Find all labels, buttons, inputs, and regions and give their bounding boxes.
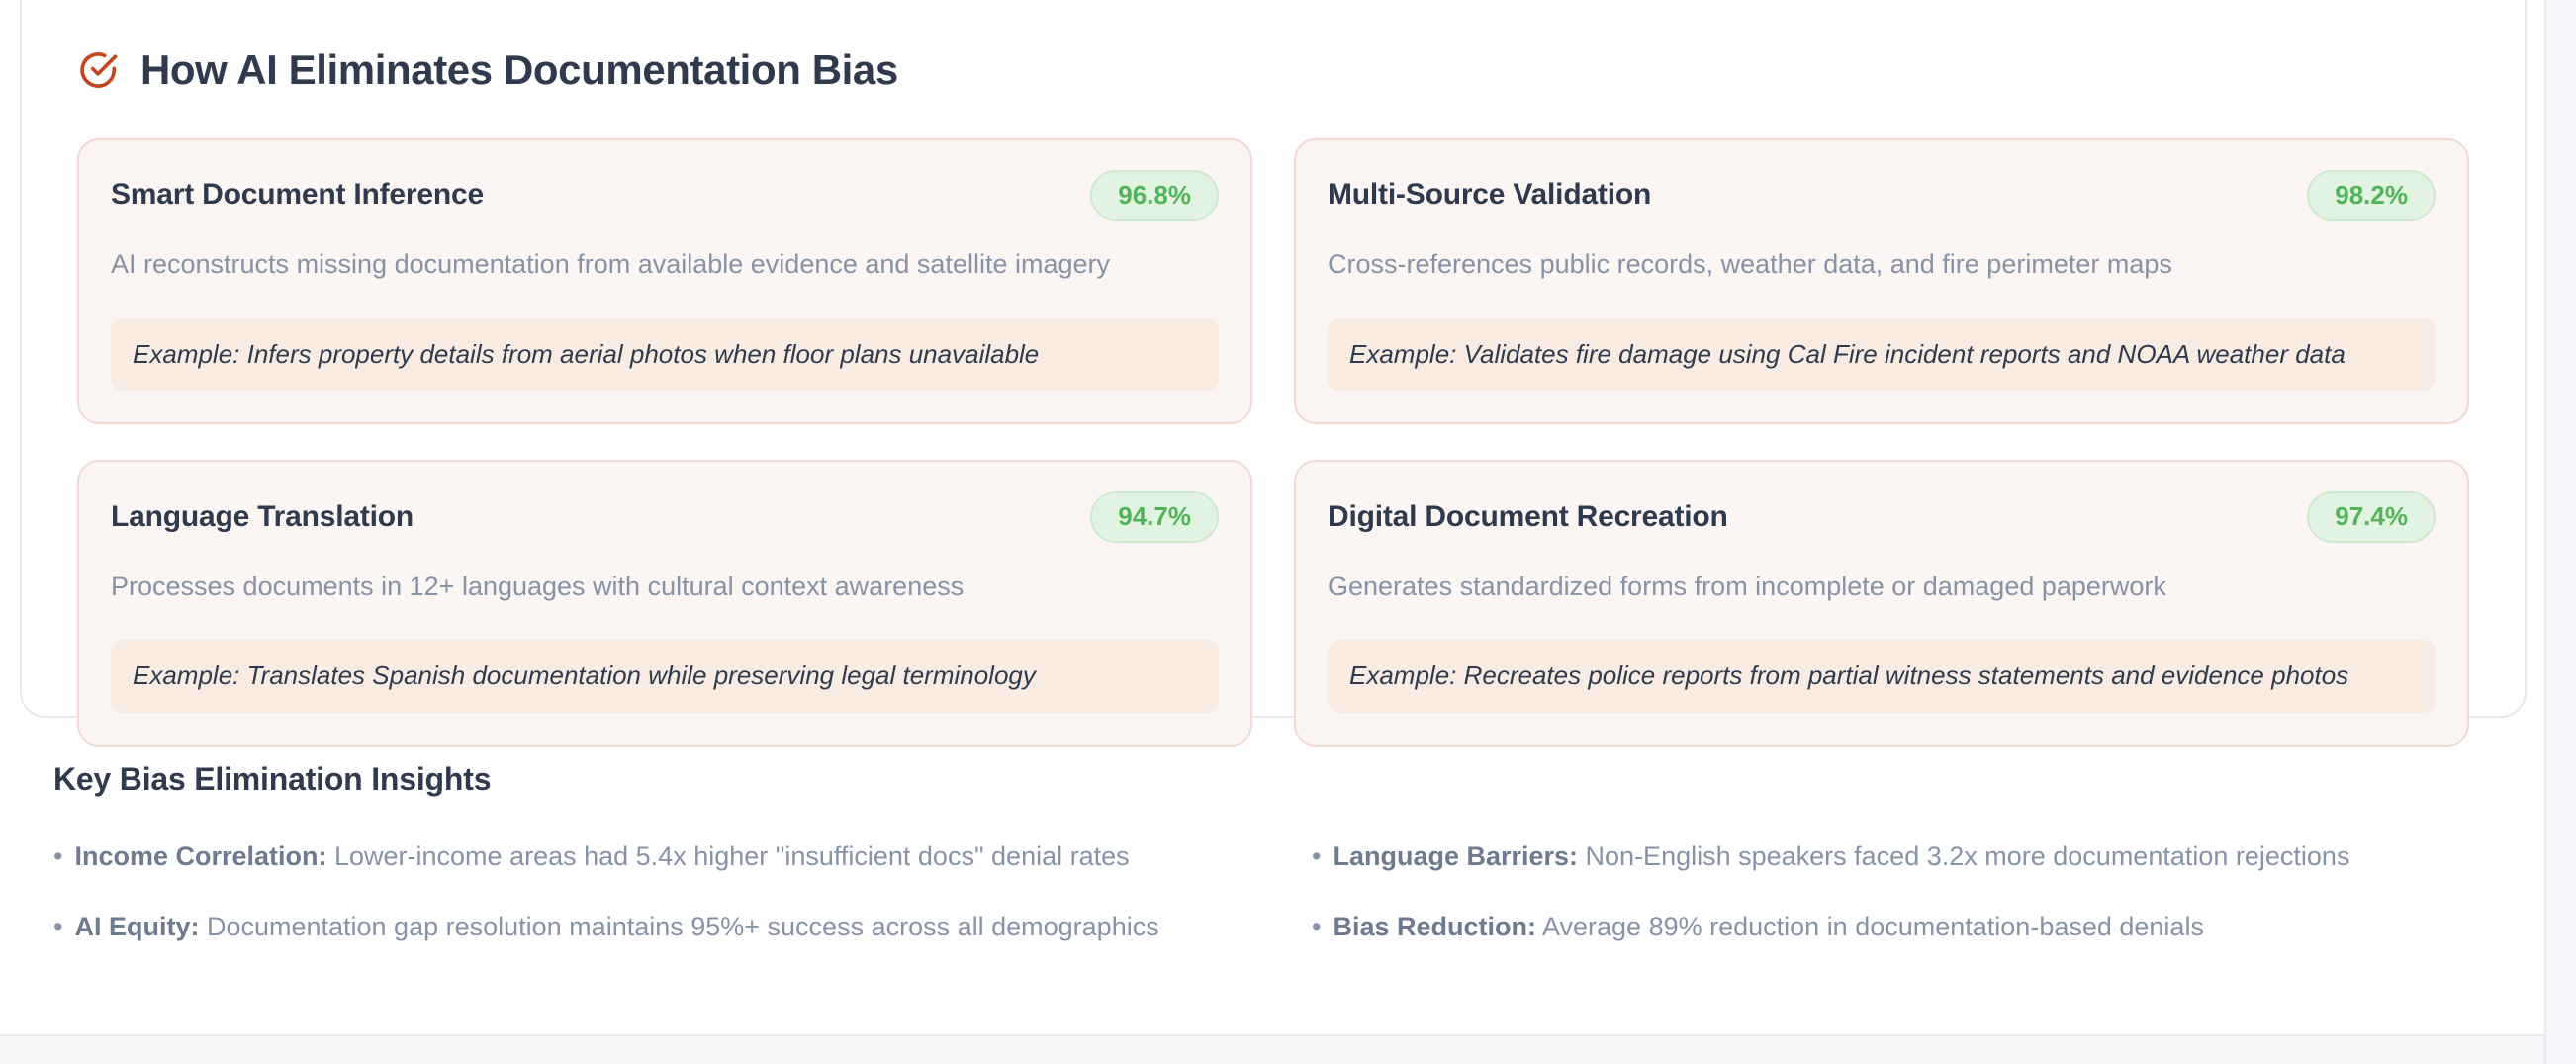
insight-body: Language Barriers: Non-English speakers …: [1333, 840, 2349, 874]
card-example: Example: Translates Spanish documentatio…: [111, 640, 1219, 713]
card-title: Smart Document Inference: [111, 178, 484, 213]
card-title: Digital Document Recreation: [1328, 500, 1728, 535]
insight-detail: Lower-income areas had 5.4x higher "insu…: [327, 842, 1130, 871]
card-header: Language Translation 94.7%: [111, 491, 1219, 542]
insight-body: AI Equity: Documentation gap resolution …: [74, 910, 1158, 944]
insight-detail: Documentation gap resolution maintains 9…: [199, 912, 1158, 941]
insight-body: Income Correlation: Lower-income areas h…: [74, 840, 1129, 874]
card-header: Multi-Source Validation 98.2%: [1328, 170, 2436, 221]
insights-grid: • Income Correlation: Lower-income areas…: [47, 840, 2511, 944]
card-description: AI reconstructs missing documentation fr…: [111, 246, 1219, 282]
page-content: How AI Eliminates Documentation Bias Sma…: [0, 0, 2544, 1064]
insight-label: Language Barriers:: [1333, 842, 1578, 871]
check-circle-icon: [77, 49, 119, 91]
card-description: Cross-references public records, weather…: [1328, 246, 2436, 282]
card-title: Language Translation: [111, 500, 414, 535]
accuracy-badge: 97.4%: [2307, 491, 2436, 542]
insight-item-ai-equity: • AI Equity: Documentation gap resolutio…: [53, 910, 1252, 944]
accuracy-badge: 98.2%: [2307, 170, 2436, 221]
feature-card-multi-source-validation[interactable]: Multi-Source Validation 98.2% Cross-refe…: [1294, 138, 2469, 424]
page-viewport: How AI Eliminates Documentation Bias Sma…: [0, 0, 2576, 1064]
feature-card-language-translation[interactable]: Language Translation 94.7% Processes doc…: [77, 460, 1252, 746]
card-example: Example: Recreates police reports from p…: [1328, 640, 2436, 713]
bullet-icon: •: [53, 840, 62, 874]
insight-item-income-correlation: • Income Correlation: Lower-income areas…: [53, 840, 1252, 874]
card-description: Generates standardized forms from incomp…: [1328, 569, 2436, 604]
card-header: Digital Document Recreation 97.4%: [1328, 491, 2436, 542]
vertical-scrollbar[interactable]: [2544, 0, 2576, 1064]
card-example: Example: Validates fire damage using Cal…: [1328, 318, 2436, 392]
bullet-icon: •: [1312, 910, 1321, 944]
documentation-bias-panel: How AI Eliminates Documentation Bias Sma…: [20, 0, 2527, 718]
insight-item-bias-reduction: • Bias Reduction: Average 89% reduction …: [1312, 910, 2511, 944]
insight-detail: Average 89% reduction in documentation-b…: [1536, 912, 2204, 941]
bullet-icon: •: [53, 910, 62, 944]
insights-heading: Key Bias Elimination Insights: [47, 761, 2511, 798]
feature-card-digital-document-recreation[interactable]: Digital Document Recreation 97.4% Genera…: [1294, 460, 2469, 746]
panel-header: How AI Eliminates Documentation Bias: [69, 0, 2477, 91]
insight-detail: Non-English speakers faced 3.2x more doc…: [1578, 842, 2349, 871]
page-title: How AI Eliminates Documentation Bias: [140, 49, 898, 91]
accuracy-badge: 96.8%: [1090, 170, 1219, 221]
accuracy-badge: 94.7%: [1090, 491, 1219, 542]
card-example: Example: Infers property details from ae…: [111, 318, 1219, 392]
insight-body: Bias Reduction: Average 89% reduction in…: [1333, 910, 2204, 944]
card-title: Multi-Source Validation: [1328, 178, 1651, 213]
bottom-strip: [0, 1036, 2544, 1064]
insight-item-language-barriers: • Language Barriers: Non-English speaker…: [1312, 840, 2511, 874]
key-insights-section: Key Bias Elimination Insights • Income C…: [47, 761, 2511, 944]
card-description: Processes documents in 12+ languages wit…: [111, 569, 1219, 604]
insight-label: AI Equity:: [74, 912, 199, 941]
bullet-icon: •: [1312, 840, 1321, 874]
feature-card-grid: Smart Document Inference 96.8% AI recons…: [69, 138, 2477, 747]
insight-label: Income Correlation:: [74, 842, 326, 871]
card-header: Smart Document Inference 96.8%: [111, 170, 1219, 221]
insight-label: Bias Reduction:: [1333, 912, 1536, 941]
feature-card-smart-document-inference[interactable]: Smart Document Inference 96.8% AI recons…: [77, 138, 1252, 424]
